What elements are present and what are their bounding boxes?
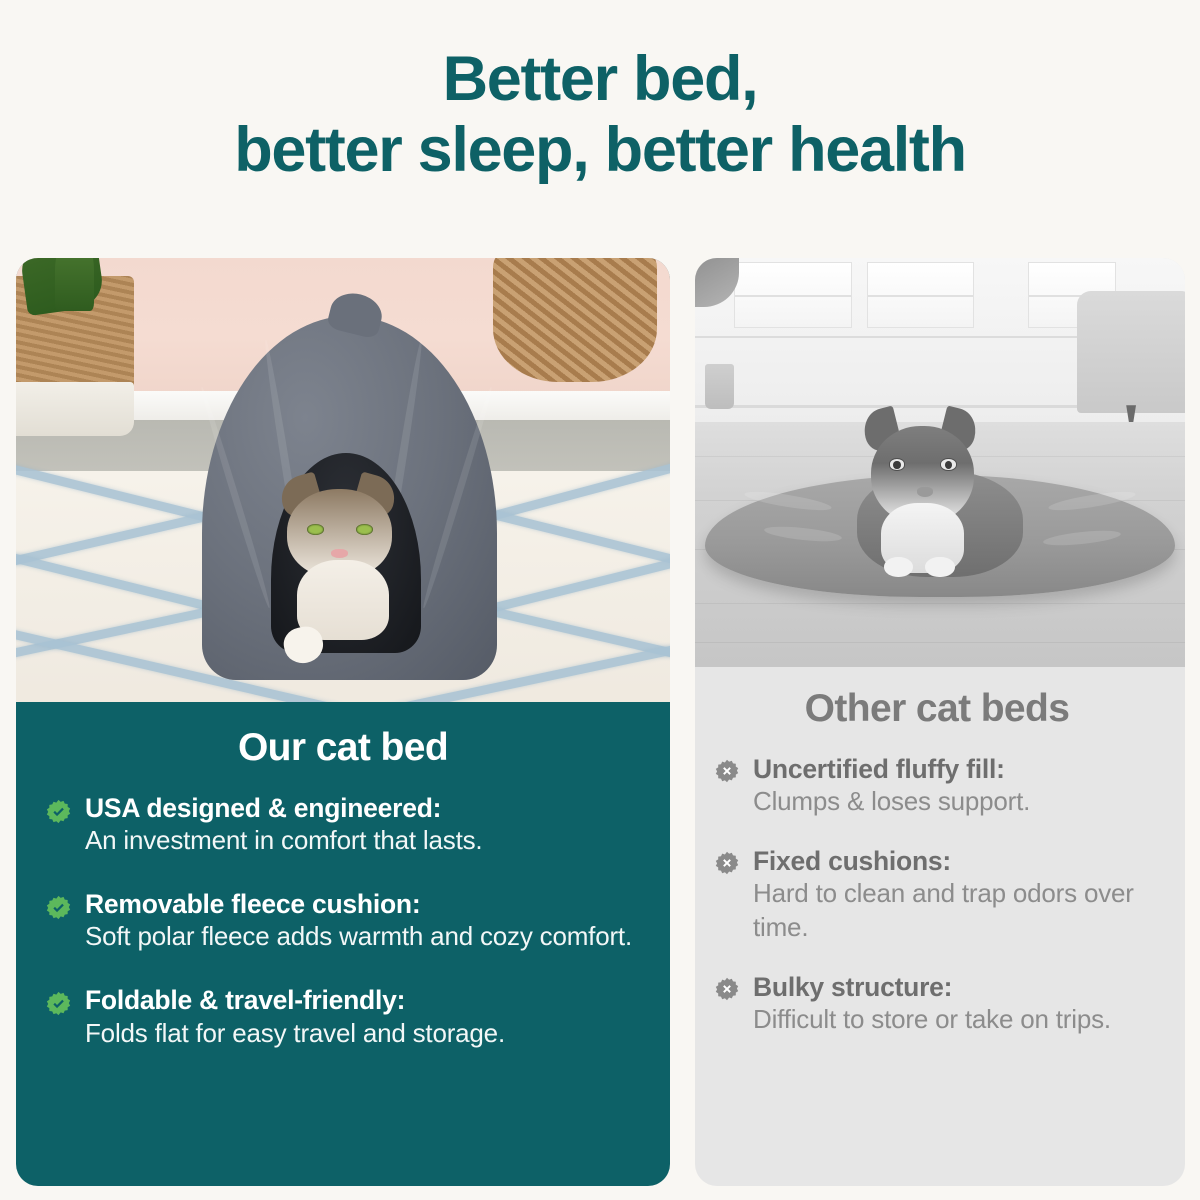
our-cat-bed-photo <box>16 258 670 702</box>
cat-eye-right <box>356 524 373 535</box>
page-headline: Better bed, better sleep, better health <box>0 44 1200 185</box>
headline-line-1: Better bed, <box>443 44 758 114</box>
feature-desc: An investment in comfort that lasts. <box>85 824 640 858</box>
other-cat-beds-card: Other cat beds Uncertified fluffy fill: … <box>695 258 1185 1186</box>
other-cat-beds-content: Other cat beds Uncertified fluffy fill: … <box>695 667 1185 1037</box>
cat-eye-left <box>307 524 324 535</box>
feature-item: Removable fleece cushion: Soft polar fle… <box>46 888 640 954</box>
other-cat-beds-photo <box>695 258 1185 667</box>
other-cat-beds-feature-list: Uncertified fluffy fill: Clumps & loses … <box>715 753 1159 1037</box>
feature-title: USA designed & engineered: <box>85 793 441 823</box>
our-cat-bed-title: Our cat bed <box>46 720 640 792</box>
cat-pupil-left <box>893 461 900 469</box>
feature-desc: Folds flat for easy travel and storage. <box>85 1017 640 1051</box>
drawback-item: Uncertified fluffy fill: Clumps & loses … <box>715 753 1159 819</box>
feature-desc: Soft polar fleece adds warmth and cozy c… <box>85 920 640 954</box>
our-cat-bed-content: Our cat bed USA designed & engineered: A… <box>16 702 670 1050</box>
photo-scene-right <box>695 258 1185 667</box>
cross-badge-icon <box>715 759 739 783</box>
cat-nose <box>917 487 933 497</box>
feature-title: Removable fleece cushion: <box>85 889 420 919</box>
cat-paw-left <box>884 557 913 577</box>
other-cat-beds-title: Other cat beds <box>715 683 1159 753</box>
check-badge-icon <box>46 991 71 1016</box>
basket-white-bottom <box>16 382 134 435</box>
cross-badge-icon <box>715 977 739 1001</box>
our-cat-bed-card: Our cat bed USA designed & engineered: A… <box>16 258 670 1186</box>
drawback-title: Bulky structure: <box>753 972 952 1002</box>
cup <box>705 364 734 409</box>
headline-line-2: better sleep, better health <box>0 115 1200 186</box>
drawback-title: Fixed cushions: <box>753 846 951 876</box>
feature-item: Foldable & travel-friendly: Folds flat f… <box>46 984 640 1050</box>
our-cat-bed-feature-list: USA designed & engineered: An investment… <box>46 792 640 1050</box>
check-badge-icon <box>46 799 71 824</box>
drawback-desc: Difficult to store or take on trips. <box>753 1003 1159 1037</box>
feature-title: Foldable & travel-friendly: <box>85 985 405 1015</box>
window-mid <box>867 262 975 327</box>
check-badge-icon <box>46 895 71 920</box>
drawback-desc: Hard to clean and trap odors over time. <box>753 877 1159 945</box>
drawback-item: Bulky structure: Difficult to store or t… <box>715 971 1159 1037</box>
sofa <box>1077 291 1185 414</box>
window-left <box>734 262 852 327</box>
photo-scene-left <box>16 258 670 702</box>
cat-paw-right <box>925 557 954 577</box>
infographic-root: Better bed, better sleep, better health <box>0 0 1200 1200</box>
drawback-title: Uncertified fluffy fill: <box>753 754 1005 784</box>
drawback-desc: Clumps & loses support. <box>753 785 1159 819</box>
cross-badge-icon <box>715 851 739 875</box>
drawback-item: Fixed cushions: Hard to clean and trap o… <box>715 845 1159 945</box>
woven-basket-right <box>493 258 657 382</box>
cat-nose <box>331 549 348 558</box>
feature-item: USA designed & engineered: An investment… <box>46 792 640 858</box>
plant-leaf-b <box>55 258 94 311</box>
